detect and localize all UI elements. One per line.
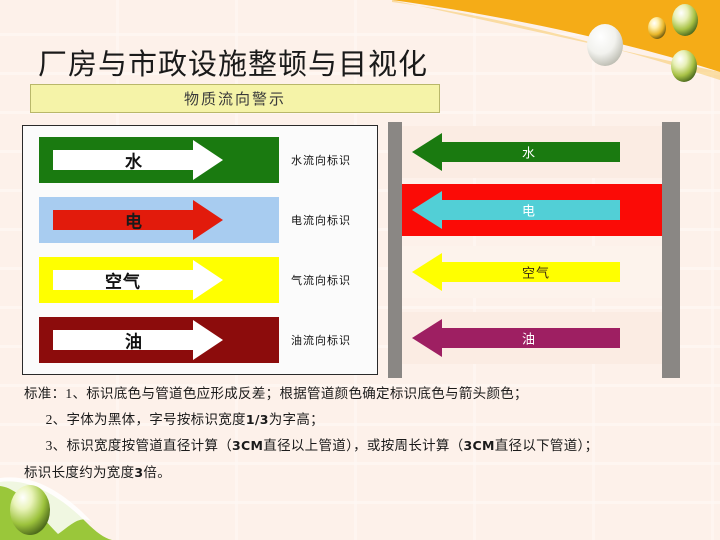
flow-arrow-left-icon <box>412 319 620 357</box>
note-line-3: 3、标识宽度按管道直径计算（3CM直径以上管道），或按周长计算（3CM直径以下管… <box>24 434 700 457</box>
pipe-label-air: 空气 <box>522 263 550 282</box>
marking-band-power: 电 <box>39 197 279 243</box>
note-3-post: 直径以下管道）； <box>495 438 599 453</box>
flow-arrow-left-icon <box>412 191 620 229</box>
note-4-pre: 标识长度约为宽度 <box>24 465 134 480</box>
marking-label-water: 水 <box>125 148 143 173</box>
page-title: 厂房与市政设施整顿与目视化 <box>38 41 428 83</box>
installed-pipes-panel: 水 电 空气 油 <box>388 122 684 378</box>
pipe-row-water: 水 <box>402 126 662 178</box>
note-3-number-2: 3CM <box>464 438 495 453</box>
note-3-pre: 3、标识宽度按管道直径计算（ <box>46 438 232 453</box>
pipe-support-right <box>662 122 680 378</box>
pipe-support-left <box>388 122 402 378</box>
flow-arrow-left-icon <box>412 133 620 171</box>
reference-caption-oil: 油流向标识 <box>291 332 351 348</box>
note-line-2: 2、字体为黑体，字号按标识宽度1/3为字高； <box>24 408 700 431</box>
marking-band-water: 水 <box>39 137 279 183</box>
reference-caption-power: 电流向标识 <box>291 212 351 228</box>
note-line-4: 标识长度约为宽度3倍。 <box>24 461 700 484</box>
flow-arrow-left-icon <box>412 253 620 291</box>
reference-row-air: 空气 气流向标识 <box>23 254 377 306</box>
standards-notes: 标准：1、标识底色与管道色应形成反差；根据管道颜色确定标识底色与箭头颜色； 2、… <box>24 382 700 487</box>
note-2-post: 为字高； <box>269 412 324 427</box>
marking-label-power: 电 <box>125 208 143 233</box>
note-3-number-1: 3CM <box>232 438 263 453</box>
reference-row-oil: 油 油流向标识 <box>23 314 377 366</box>
reference-caption-water: 水流向标识 <box>291 152 351 168</box>
marking-label-air: 空气 <box>105 268 141 293</box>
subtitle-banner: 物质流向警示 <box>30 84 440 113</box>
pipe-row-oil: 油 <box>402 312 662 364</box>
pipe-label-oil: 油 <box>522 329 536 348</box>
reference-row-water: 水 水流向标识 <box>23 134 377 186</box>
note-3-mid: 直径以上管道），或按周长计算（ <box>263 438 463 453</box>
note-line-1: 标准：1、标识底色与管道色应形成反差；根据管道颜色确定标识底色与箭头颜色； <box>24 382 700 405</box>
reference-caption-air: 气流向标识 <box>291 272 351 288</box>
note-4-post: 倍。 <box>143 465 171 480</box>
marking-band-air: 空气 <box>39 257 279 303</box>
pipe-label-water: 水 <box>522 143 536 162</box>
pipe-row-air: 空气 <box>402 246 662 298</box>
pipe-row-power: 电 <box>402 184 662 236</box>
marking-label-oil: 油 <box>125 328 143 353</box>
pipe-marking-reference-panel: 水 水流向标识 电 电流向标识 空气 气流向标识 <box>22 125 378 375</box>
note-2-pre: 2、字体为黑体，字号按标识宽度 <box>46 412 246 427</box>
marking-band-oil: 油 <box>39 317 279 363</box>
pipe-label-power: 电 <box>522 201 536 220</box>
reference-row-power: 电 电流向标识 <box>23 194 377 246</box>
note-2-number: 1/3 <box>246 412 269 427</box>
subtitle-text: 物质流向警示 <box>184 88 286 109</box>
